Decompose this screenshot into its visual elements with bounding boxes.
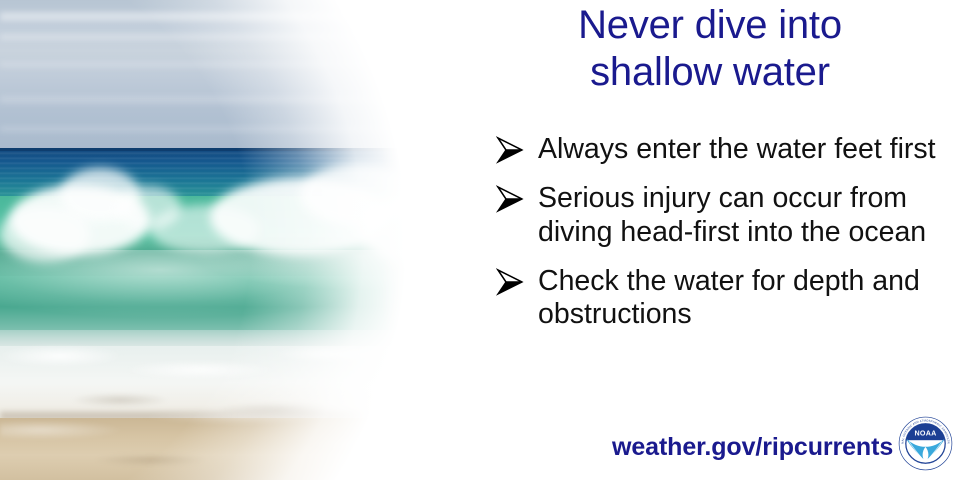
list-item: Serious injury can occur from diving hea… — [492, 182, 954, 249]
footer: weather.gov/ripcurrents NATIONAL OCEANIC… — [470, 416, 960, 474]
list-item-label: Always enter the water feet first — [538, 133, 954, 166]
safety-tips-list: Always enter the water feet first Seriou… — [492, 133, 954, 332]
noaa-seal-logo: NATIONAL OCEANIC AND ATMOSPHERIC ADMINIS… — [898, 416, 953, 471]
noaa-wordmark: NOAA — [915, 429, 937, 437]
content-panel: Never dive into shallow water Always ent… — [470, 0, 960, 480]
sky-region — [0, 0, 470, 150]
cloud-streak — [0, 96, 470, 103]
cloud-streak — [0, 34, 470, 40]
sand-texture — [0, 400, 470, 480]
list-item-label: Check the water for depth and obstructio… — [538, 265, 954, 332]
cloud-streak — [0, 126, 470, 132]
website-url[interactable]: weather.gov/ripcurrents — [612, 433, 893, 462]
page-title: Never dive into shallow water — [470, 2, 950, 96]
cloud-streak — [0, 62, 470, 67]
list-item-label: Serious injury can occur from diving hea… — [538, 182, 954, 249]
arrowhead-bullet-icon — [494, 267, 526, 297]
title-line-1: Never dive into — [470, 2, 950, 49]
safety-infographic-slide: Never dive into shallow water Always ent… — [0, 0, 960, 480]
title-line-2: shallow water — [470, 49, 950, 96]
ocean-wave-photo — [0, 0, 470, 480]
arrowhead-bullet-icon — [494, 184, 526, 214]
cloud-streak — [0, 12, 470, 21]
list-item: Always enter the water feet first — [492, 133, 954, 166]
beach-photo-panel — [0, 0, 470, 480]
list-item: Check the water for depth and obstructio… — [492, 265, 954, 332]
arrowhead-bullet-icon — [494, 135, 526, 165]
